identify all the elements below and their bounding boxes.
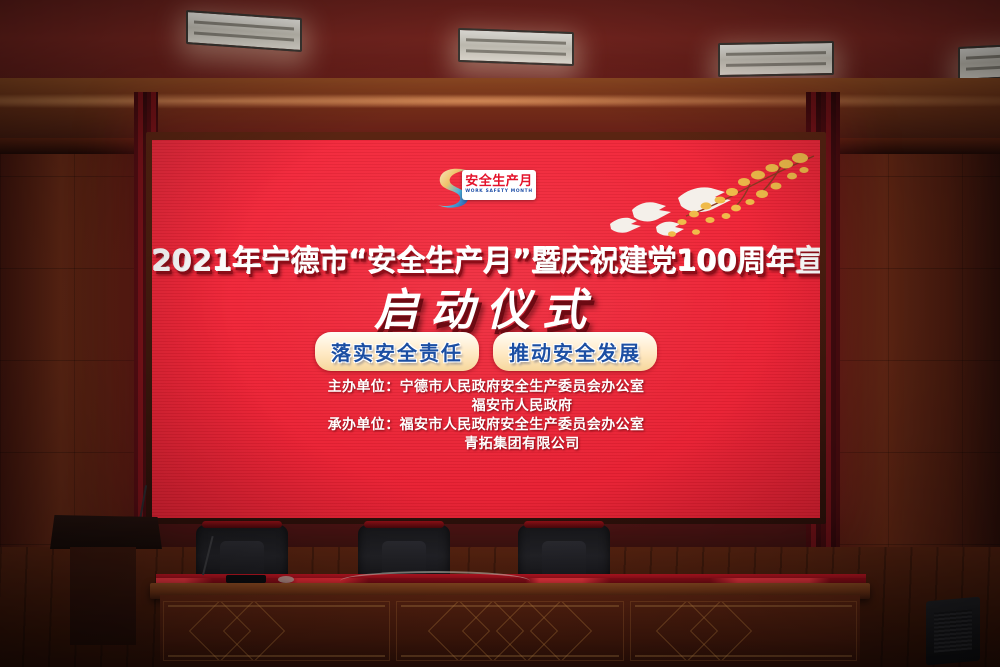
desk-object (226, 575, 266, 583)
slogan-pill: 落实安全责任 (315, 332, 479, 371)
microphone-cable (340, 571, 530, 583)
table-panel (163, 601, 390, 661)
slogan-pill: 推动安全发展 (493, 332, 657, 371)
table-panel (396, 601, 623, 661)
floor-loudspeaker (926, 597, 980, 666)
event-title-sub: 启动仪式 (152, 274, 820, 338)
speaker-podium (50, 515, 162, 645)
logo-text-box: 安全生产月 WORK SAFETY MONTH (462, 170, 536, 200)
dove-blossom-decoration (586, 142, 816, 250)
logo-chinese-text: 安全生产月 (465, 175, 533, 189)
conference-table (160, 519, 860, 667)
ceiling-light-panel (958, 41, 1000, 81)
organizer-line: 承办单位：福安市人民政府安全生产委员会办公室 (152, 416, 820, 435)
table-front-panels (160, 595, 860, 667)
organizer-value: 福安市人民政府 (472, 398, 573, 414)
podium-body (70, 547, 136, 645)
slogan-row: 落实安全责任 推动安全发展 (152, 332, 820, 371)
organizer-block: 主办单位：宁德市人民政府安全生产委员会办公室 福安市人民政府 承办单位：福安市人… (152, 378, 820, 454)
organizer-label: 承办单位： (328, 417, 400, 433)
logo-english-text: WORK SAFETY MONTH (465, 189, 533, 195)
table-panel (630, 601, 857, 661)
ceiling-light-panel (718, 41, 834, 77)
organizer-value: 宁德市人民政府安全生产委员会办公室 (400, 379, 645, 395)
dove-icon (632, 202, 671, 221)
dove-icon (610, 218, 641, 233)
organizer-line: 青拓集团有限公司 (152, 435, 820, 454)
led-screen: 安全生产月 WORK SAFETY MONTH 2021年宁德市“安全生产月”暨… (152, 140, 820, 518)
ceiling-light-panel (186, 10, 302, 52)
organizer-line: 主办单位：宁德市人民政府安全生产委员会办公室 (152, 378, 820, 397)
organizer-value: 青拓集团有限公司 (464, 436, 579, 452)
desk-object (278, 576, 294, 583)
organizer-line: 福安市人民政府 (152, 397, 820, 416)
organizer-value: 福安市人民政府安全生产委员会办公室 (400, 417, 645, 433)
work-safety-month-logo: 安全生产月 WORK SAFETY MONTH (434, 162, 538, 212)
ceiling-light-panel (458, 28, 574, 66)
organizer-label: 主办单位： (328, 379, 400, 395)
conference-hall-scene: 安全生产月 WORK SAFETY MONTH 2021年宁德市“安全生产月”暨… (0, 0, 1000, 667)
podium-top (50, 515, 162, 549)
